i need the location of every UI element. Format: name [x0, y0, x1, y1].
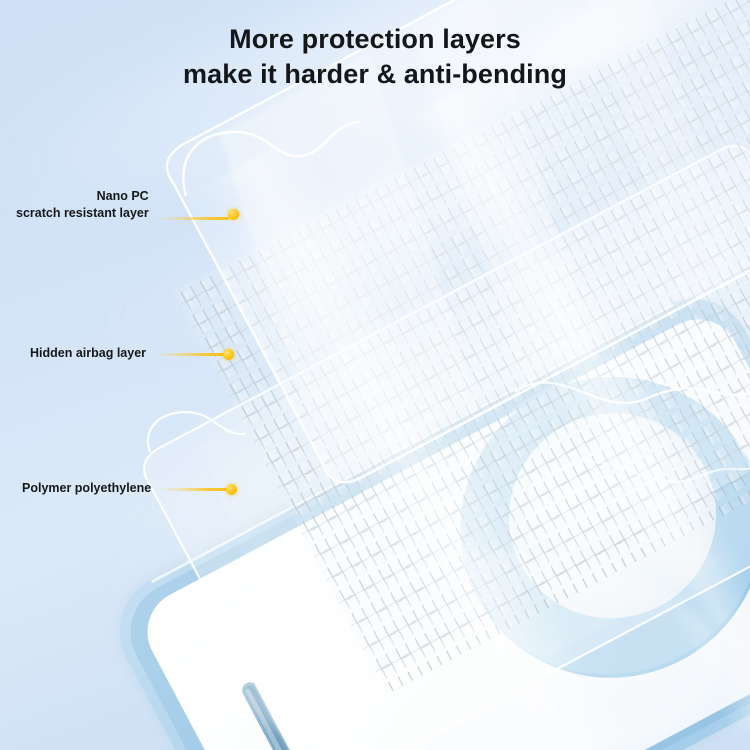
- callout-nano-pc-dot: [228, 209, 239, 220]
- callout-hidden-airbag: Hidden airbag layer: [30, 344, 234, 364]
- callout-hidden-airbag-dot: [223, 349, 234, 360]
- callout-hidden-airbag-label: Hidden airbag layer: [30, 345, 146, 363]
- product-feature-image: More protection layers make it harder & …: [0, 0, 750, 750]
- exploded-layers-illustration: [0, 0, 750, 750]
- callout-nano-pc-label: Nano PC scratch resistant layer: [16, 188, 149, 224]
- callout-hidden-airbag-leader-line: [154, 353, 224, 356]
- headline-line-2: make it harder & anti-bending: [0, 57, 750, 92]
- callout-polymer-polyethylene-label: Polymer polyethylene: [22, 480, 151, 498]
- callout-polymer-polyethylene-leader-line: [159, 488, 227, 491]
- headline-line-1: More protection layers: [229, 24, 521, 54]
- callout-nano-pc: Nano PC scratch resistant layer: [16, 200, 239, 220]
- callout-polymer-polyethylene: Polymer polyethylene: [22, 479, 237, 499]
- headline: More protection layers make it harder & …: [0, 22, 750, 91]
- callout-polymer-polyethylene-dot: [226, 484, 237, 495]
- callout-nano-pc-leader-line: [157, 217, 229, 220]
